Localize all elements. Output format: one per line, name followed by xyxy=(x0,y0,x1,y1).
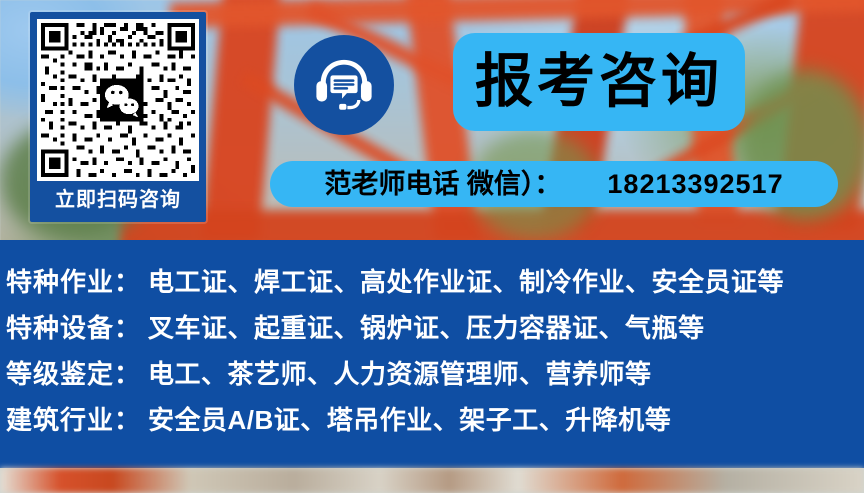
course-items: 叉车证、起重证、锅炉证、压力容器证、气瓶等 xyxy=(148,308,705,345)
contact-banner[interactable]: 范老师电话 微信）： 18213392517 xyxy=(270,161,838,207)
wechat-qr-code-icon[interactable] xyxy=(37,19,199,181)
promotional-poster: 立即扫码咨询 报考咨询 xyxy=(0,0,864,493)
course-list-panel: 特种作业： 电工证、焊工证、高处作业证、制冷作业、安全员证等 特种设备： 叉车证… xyxy=(0,240,864,468)
title-banner: 报考咨询 xyxy=(453,33,745,131)
contact-label: 范老师电话 微信）： xyxy=(324,171,561,198)
support-badge xyxy=(294,35,394,135)
qr-caption: 立即扫码咨询 xyxy=(37,181,199,219)
page-title: 报考咨询 xyxy=(475,53,723,111)
course-items: 电工、茶艺师、人力资源管理师、营养师等 xyxy=(148,354,652,391)
course-row: 特种设备： 叉车证、起重证、锅炉证、压力容器证、气瓶等 xyxy=(6,308,864,354)
course-items: 安全员A/B证、塔吊作业、架子工、升降机等 xyxy=(148,400,671,437)
course-category-label: 建筑行业： xyxy=(6,400,148,437)
qr-code-card[interactable]: 立即扫码咨询 xyxy=(30,12,206,222)
headset-support-icon xyxy=(313,54,375,116)
course-category-label: 特种设备： xyxy=(6,308,148,345)
bottom-photo-strip xyxy=(0,468,864,493)
course-row: 建筑行业： 安全员A/B证、塔吊作业、架子工、升降机等 xyxy=(6,400,864,446)
course-items: 电工证、焊工证、高处作业证、制冷作业、安全员证等 xyxy=(148,262,784,299)
contact-phone-number[interactable]: 18213392517 xyxy=(607,171,783,198)
course-category-label: 特种作业： xyxy=(6,262,148,299)
course-row: 等级鉴定： 电工、茶艺师、人力资源管理师、营养师等 xyxy=(6,354,864,400)
course-category-label: 等级鉴定： xyxy=(6,354,148,391)
course-row: 特种作业： 电工证、焊工证、高处作业证、制冷作业、安全员证等 xyxy=(6,262,864,308)
steel-beam xyxy=(201,0,281,240)
